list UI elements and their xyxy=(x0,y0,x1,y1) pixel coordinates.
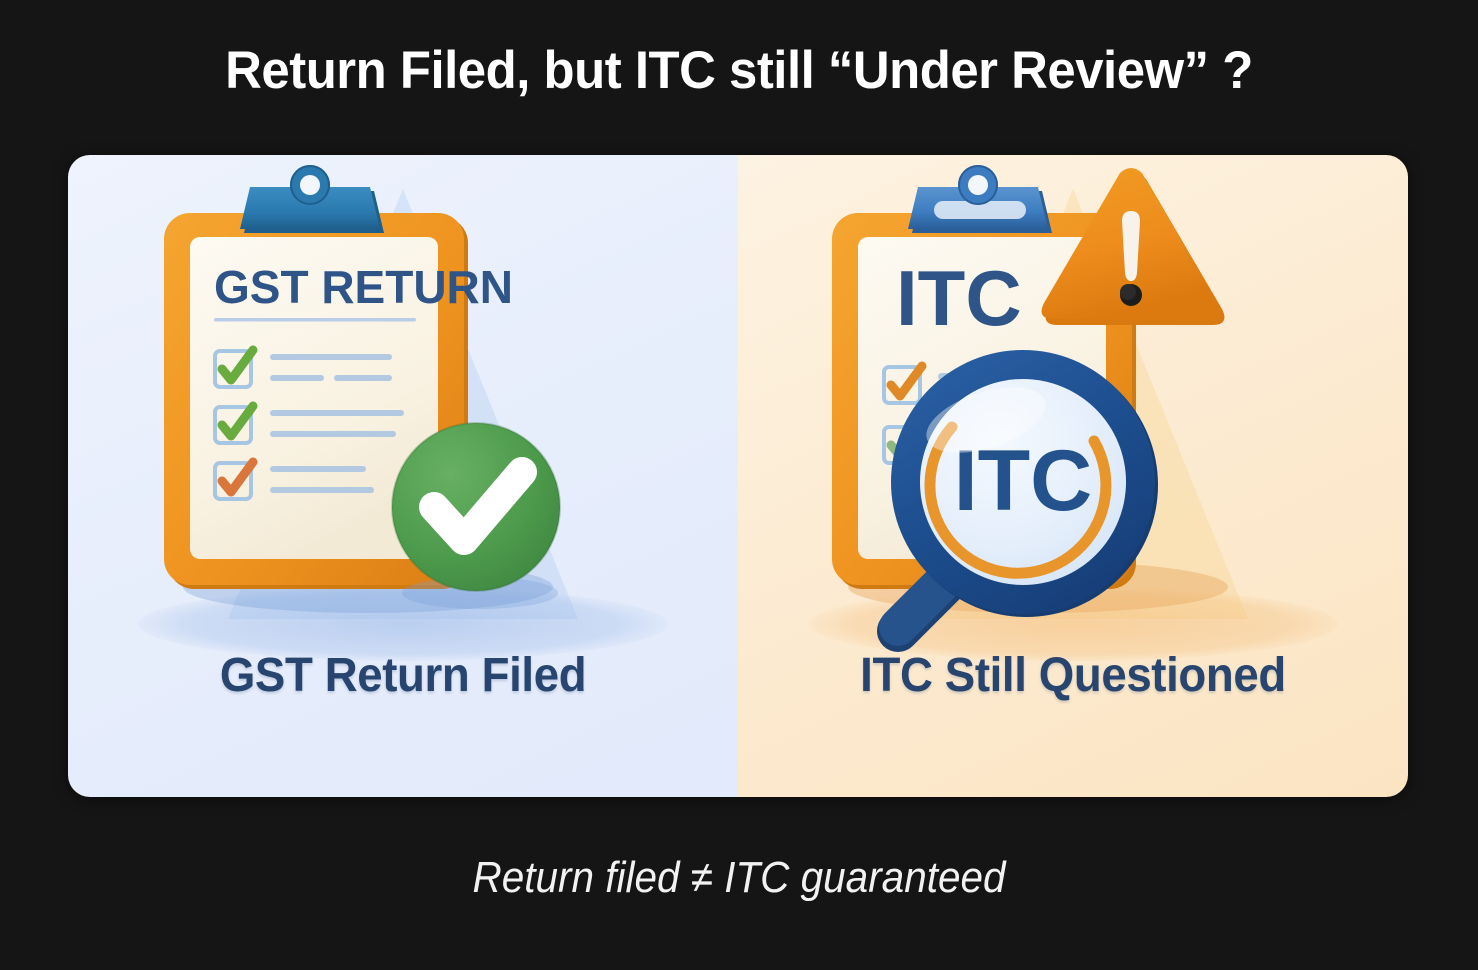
panel-gst-return-filed: GST RETURN xyxy=(68,155,738,797)
panel-itc-still-questioned: ITC xyxy=(738,155,1408,797)
clipboard-heading-left: GST RETURN xyxy=(214,261,513,313)
clipboard-clip-right xyxy=(908,165,1052,233)
comparison-card: GST RETURN xyxy=(68,155,1408,797)
clipboard-heading-right: ITC xyxy=(896,254,1022,342)
panel-label-right: ITC Still Questioned xyxy=(755,648,1392,703)
illustration-gst-return-filed: GST RETURN xyxy=(68,155,738,675)
illustration-itc-still-questioned: ITC xyxy=(738,155,1408,675)
poster-caption: Return filed ≠ ITC guaranteed xyxy=(59,853,1419,903)
clipboard-clip-left xyxy=(240,165,384,233)
panel-label-left: GST Return Filed xyxy=(85,648,722,703)
poster-root: Return Filed, but ITC still “Under Revie… xyxy=(0,0,1478,970)
poster-title: Return Filed, but ITC still “Under Revie… xyxy=(30,40,1449,101)
